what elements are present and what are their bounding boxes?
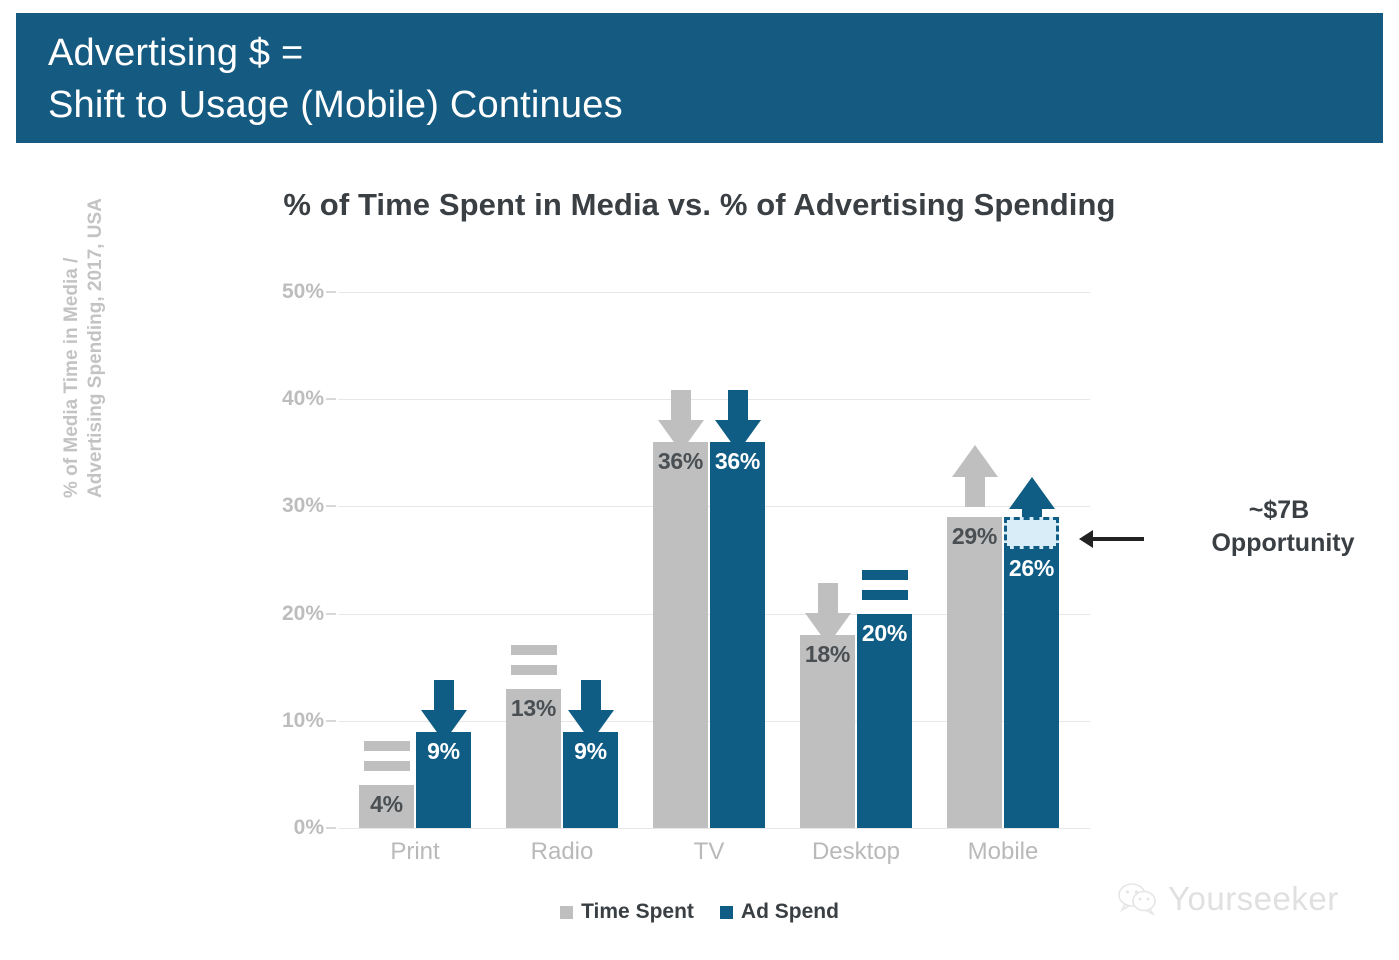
x-axis-label-tv: TV: [644, 838, 774, 866]
bar-value-label: 18%: [800, 641, 855, 668]
opportunity-amount: ~$7B: [1138, 494, 1398, 527]
equals-marker-icon: [862, 570, 908, 604]
legend-item[interactable]: Ad Spend: [720, 900, 839, 924]
bar-mobile-ad-spend: 26%: [1004, 549, 1059, 828]
chart-container: % of Time Spent in Media vs. % of Advert…: [0, 143, 1399, 960]
bar-radio-ad-spend: 9%: [563, 732, 618, 828]
y-axis-title-line1: % of Media Time in Media /: [60, 198, 84, 498]
plot-area: 50%40%30%20%10%0% 4%9%13%9%36%36%18%20%2…: [338, 292, 1090, 828]
bar-print-time-spent: 4%: [359, 785, 414, 828]
legend-swatch-icon: [560, 906, 573, 919]
y-axis-tick-label: 30%: [282, 494, 324, 518]
wechat-icon: [1118, 882, 1158, 916]
gridline: [338, 828, 1090, 829]
y-axis-tick-mark: [326, 613, 336, 615]
watermark: Yourseeker: [1118, 880, 1339, 918]
opportunity-box: [1004, 517, 1059, 549]
y-axis-tick-mark: [326, 720, 336, 722]
arrow-down-icon: [658, 390, 704, 452]
y-axis-title: % of Media Time in Media / Advertising S…: [60, 198, 108, 498]
y-axis-tick-label: 10%: [282, 709, 324, 733]
bar-tv-time-spent: 36%: [653, 442, 708, 828]
bar-mobile-time-spent: 29%: [947, 517, 1002, 828]
bar-value-label: 4%: [359, 791, 414, 818]
legend-item[interactable]: Time Spent: [560, 900, 694, 924]
opportunity-callout: ~$7B Opportunity: [1138, 494, 1398, 560]
y-axis-tick-label: 20%: [282, 602, 324, 626]
equals-marker-icon: [364, 741, 410, 775]
bar-value-label: 36%: [710, 448, 765, 475]
gridline: [338, 292, 1090, 293]
x-axis-label-mobile: Mobile: [938, 838, 1068, 866]
bar-value-label: 9%: [563, 738, 618, 765]
bar-value-label: 9%: [416, 738, 471, 765]
y-axis-tick-label: 0%: [294, 816, 324, 840]
bar-tv-ad-spend: 36%: [710, 442, 765, 828]
chart-title: % of Time Spent in Media vs. % of Advert…: [0, 187, 1399, 223]
bar-value-label: 29%: [947, 523, 1002, 550]
bar-value-label: 36%: [653, 448, 708, 475]
callout-arrow-icon: [1092, 537, 1144, 541]
legend-swatch-icon: [720, 906, 733, 919]
page-title: Advertising $ = Shift to Usage (Mobile) …: [48, 27, 623, 131]
y-axis-tick-label: 50%: [282, 280, 324, 304]
legend-label: Time Spent: [581, 900, 694, 924]
y-axis-tick-mark: [326, 827, 336, 829]
bar-radio-time-spent: 13%: [506, 689, 561, 828]
y-axis-tick-mark: [326, 398, 336, 400]
arrow-up-icon: [952, 445, 998, 507]
y-axis-tick-mark: [326, 291, 336, 293]
opportunity-label: Opportunity: [1138, 527, 1398, 560]
arrow-down-icon: [805, 583, 851, 645]
bar-value-label: 20%: [857, 620, 912, 647]
bar-value-label: 13%: [506, 695, 561, 722]
y-axis-tick-mark: [326, 505, 336, 507]
bar-value-label: 26%: [1004, 555, 1059, 582]
header-banner: Advertising $ = Shift to Usage (Mobile) …: [16, 13, 1383, 143]
legend-label: Ad Spend: [741, 900, 839, 924]
x-axis-label-desktop: Desktop: [791, 838, 921, 866]
arrow-down-icon: [568, 680, 614, 742]
bar-desktop-ad-spend: 20%: [857, 614, 912, 828]
arrow-down-icon: [715, 390, 761, 452]
y-axis-title-line2: Advertising Spending, 2017, USA: [84, 198, 108, 498]
bar-print-ad-spend: 9%: [416, 732, 471, 828]
bar-desktop-time-spent: 18%: [800, 635, 855, 828]
x-axis-label-radio: Radio: [497, 838, 627, 866]
arrow-down-icon: [421, 680, 467, 742]
watermark-text: Yourseeker: [1168, 880, 1339, 918]
equals-marker-icon: [511, 645, 557, 679]
x-axis-label-print: Print: [350, 838, 480, 866]
y-axis-tick-label: 40%: [282, 387, 324, 411]
